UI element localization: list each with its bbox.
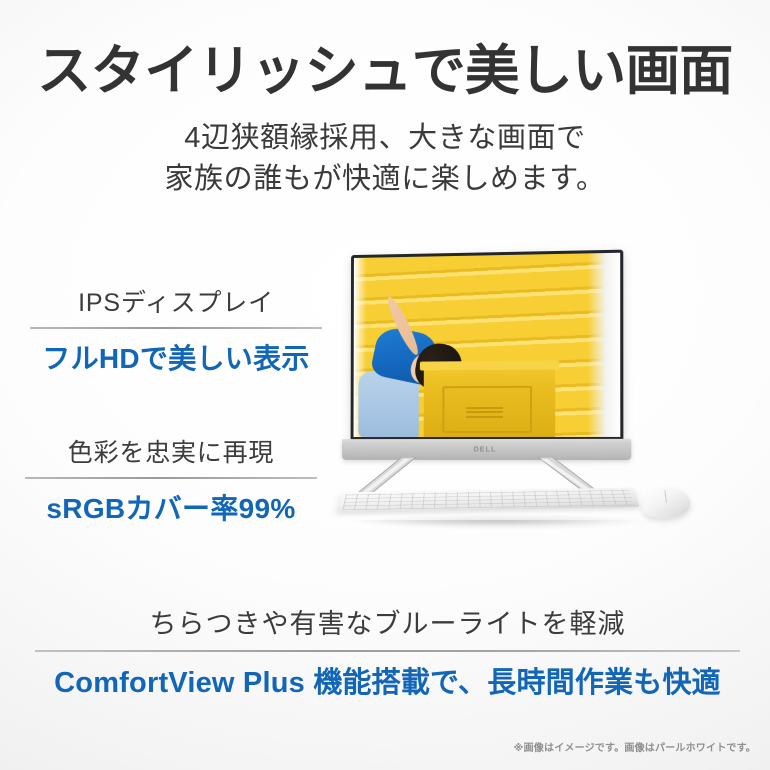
wireless-mouse	[640, 485, 691, 521]
feature-highlight: フルHDで美しい表示	[30, 342, 322, 376]
subtitle: 4辺狭額縁採用、大きな画面で 家族の誰もが快適に楽しめます。	[0, 118, 770, 200]
subtitle-line-1: 4辺狭額縁採用、大きな画面で	[0, 118, 770, 159]
keyboard-keys	[342, 489, 634, 510]
feature-divider	[35, 650, 740, 652]
product-photo: DELL	[336, 252, 736, 542]
feature-callout-srgb-coverage: 色彩を忠実に再現 sRGBカバー率99%	[25, 438, 317, 526]
feature-callout-ips-display: IPSディスプレイ フルHDで美しい表示	[30, 288, 322, 376]
feature-label: 色彩を忠実に再現	[25, 438, 317, 468]
feature-label: IPSディスプレイ	[30, 288, 322, 318]
wireless-keyboard	[337, 488, 640, 513]
page-title: スタイリッシュで美しい画面	[0, 44, 770, 98]
feature-highlight: ComfortView Plus 機能搭載で、長時間作業も快適	[35, 666, 740, 701]
subtitle-line-2: 家族の誰もが快適に楽しめます。	[0, 159, 770, 200]
feature-highlight: sRGBカバー率99%	[25, 492, 317, 526]
screen-wall-right-edge	[587, 253, 620, 437]
cabinet-top-surface	[420, 360, 559, 370]
cabinet-vent-line	[466, 416, 502, 418]
keyboard-shadow	[350, 520, 630, 526]
feature-label: ちらつきや有害なブルーライトを軽減	[35, 608, 740, 640]
screen-yellow-cabinet	[424, 365, 555, 437]
cabinet-vent-line	[466, 407, 502, 409]
feature-divider	[25, 477, 317, 479]
disclaimer-text: ※画像はイメージです。画像はパールホワイトです。	[514, 739, 756, 754]
mouse-button-divider	[664, 490, 667, 503]
feature-callout-comfortview-plus: ちらつきや有害なブルーライトを軽減 ComfortView Plus 機能搭載で…	[35, 608, 740, 701]
all-in-one-monitor	[351, 250, 624, 440]
dell-logo: DELL	[474, 446, 497, 453]
marketing-panel: スタイリッシュで美しい画面 4辺狭額縁採用、大きな画面で 家族の誰もが快適に楽し…	[0, 0, 770, 770]
feature-divider	[30, 327, 322, 329]
cabinet-vent-line	[466, 411, 502, 413]
monitor-screen	[354, 253, 621, 437]
cabinet-door-panel	[442, 386, 532, 433]
